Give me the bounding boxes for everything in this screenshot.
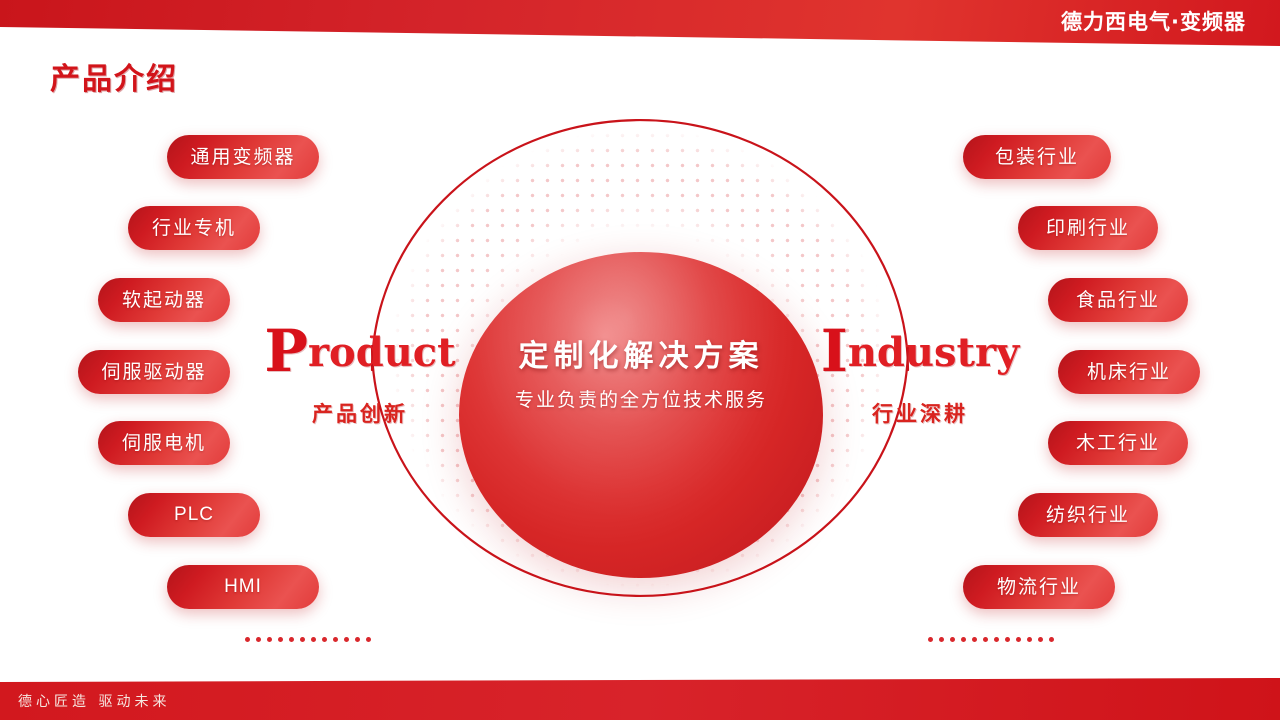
footer-red-band [0,678,1280,720]
decoration-dot [928,637,933,642]
product-pill[interactable]: 伺服电机 [98,421,230,465]
decoration-dot [333,637,338,642]
center-sphere: 定制化解决方案 专业负责的全方位技术服务 [459,252,823,578]
industry-pill[interactable]: 印刷行业 [1018,206,1158,250]
decoration-dot [344,637,349,642]
left-heading-en: Product [230,322,490,380]
decoration-dot [983,637,988,642]
decoration-dot [1005,637,1010,642]
decoration-dot [1049,637,1054,642]
decoration-dot [950,637,955,642]
left-heading-capital: P [264,317,308,385]
product-pill[interactable]: 软起动器 [98,278,230,322]
center-title: 定制化解决方案 [459,338,823,376]
decoration-dot [939,637,944,642]
decoration-dot [961,637,966,642]
decoration-dot [278,637,283,642]
decoration-dot [311,637,316,642]
decoration-dot [267,637,272,642]
product-pill[interactable]: HMI [167,565,319,609]
decoration-dot [300,637,305,642]
center-sphere-text: 定制化解决方案 专业负责的全方位技术服务 [459,338,823,412]
industry-pill[interactable]: 物流行业 [963,565,1115,609]
industry-pill[interactable]: 包装行业 [963,135,1111,179]
decoration-dot [355,637,360,642]
diagram-stage: 定制化解决方案 专业负责的全方位技术服务 Product 产品创新 Indust… [0,0,1280,720]
right-section-heading: Industry 行业深耕 [790,322,1050,428]
product-pill[interactable]: 伺服驱动器 [78,350,230,394]
left-section-heading: Product 产品创新 [230,322,490,428]
footer-slogan: 德心匠造 驱动未来 [18,691,170,711]
left-heading-rest: roduct [308,329,456,376]
industry-pill[interactable]: 机床行业 [1058,350,1200,394]
decoration-dot [994,637,999,642]
right-heading-en: Industry [790,322,1050,380]
product-pill[interactable]: 行业专机 [128,206,260,250]
decoration-dot [1038,637,1043,642]
industry-pill[interactable]: 纺织行业 [1018,493,1158,537]
slide-root: 德力西电气·变频器 产品介绍 定制化解决方案 专业负责的全方位技术服务 Prod… [0,0,1280,720]
right-heading-cn: 行业深耕 [790,398,1050,428]
right-dot-decoration [928,636,1054,643]
decoration-dot [1016,637,1021,642]
right-heading-capital: I [821,317,848,385]
decoration-dot [289,637,294,642]
center-subtitle: 专业负责的全方位技术服务 [459,385,823,412]
industry-pill[interactable]: 食品行业 [1048,278,1188,322]
product-pill[interactable]: 通用变频器 [167,135,319,179]
product-pill[interactable]: PLC [128,493,260,537]
decoration-dot [256,637,261,642]
decoration-dot [245,637,250,642]
left-heading-cn: 产品创新 [230,398,490,428]
industry-pill[interactable]: 木工行业 [1048,421,1188,465]
left-dot-decoration [245,636,371,643]
decoration-dot [366,637,371,642]
decoration-dot [1027,637,1032,642]
sphere-highlight [459,252,823,578]
decoration-dot [322,637,327,642]
decoration-dot [972,637,977,642]
right-heading-rest: ndustry [848,329,1019,376]
